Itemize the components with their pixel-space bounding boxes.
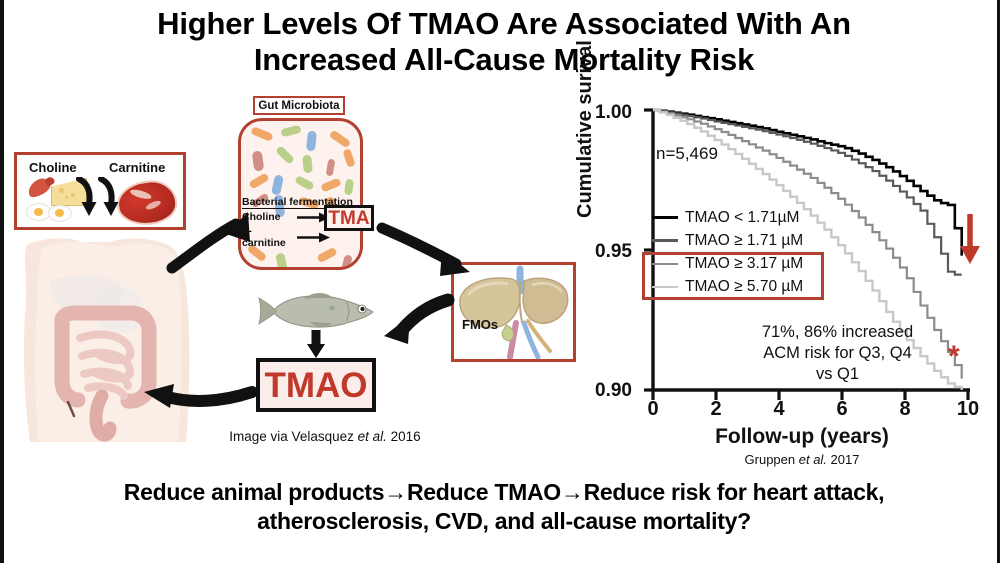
chart-citation: Gruppen et al. 2017: [652, 452, 952, 467]
citation-suffix: 2017: [827, 452, 860, 467]
citation-prefix: Gruppen: [745, 452, 799, 467]
liver-illustration: [454, 265, 573, 359]
caption-line-2: atherosclerosis, CVD, and all-cause mort…: [44, 507, 964, 536]
legend-swatch: [652, 239, 678, 242]
x-tick-label: 0: [638, 398, 668, 421]
down-arrow-icon: [75, 177, 97, 217]
right-arrow-icon: [297, 232, 331, 243]
annotation-line-2: ACM risk for Q3, Q4: [730, 343, 945, 364]
credit-italic: et al.: [358, 429, 387, 444]
slide-caption: Reduce animal products→Reduce TMAO→Reduc…: [44, 478, 964, 537]
credit-suffix: 2016: [387, 429, 421, 444]
kaplan-meier-chart: Cumulative surival 1.00 0.95 0.90 0 2 4 …: [580, 100, 1000, 460]
carnitine-label: Carnitine: [109, 160, 165, 175]
down-arrow-icon: [97, 177, 119, 217]
dietary-source-box: Choline Carnitine: [14, 152, 186, 230]
red-asterisk-icon: *: [948, 342, 960, 372]
chart-legend: TMAO < 1.71µM TMAO ≥ 1.71 µM TMAO ≥ 3.17…: [652, 206, 842, 298]
legend-label: TMAO ≥ 5.70 µM: [685, 278, 803, 296]
annotation-line-1: 71%, 86% increased: [730, 322, 945, 343]
choline-label: Choline: [29, 160, 77, 175]
shrimp-icon: [25, 175, 53, 200]
legend-swatch: [652, 216, 678, 219]
credit-prefix: Image via Velasquez: [229, 429, 357, 444]
fish-icon: [258, 288, 378, 332]
slide-canvas: Higher Levels Of TMAO Are Associated Wit…: [4, 0, 997, 563]
arrow-gut-to-tmao: [307, 330, 325, 358]
caption-line-1: Reduce animal products→Reduce TMAO→Reduc…: [44, 478, 964, 507]
legend-label: TMAO < 1.71µM: [685, 209, 799, 227]
legend-item[interactable]: TMAO ≥ 1.71 µM: [652, 229, 842, 252]
red-down-arrow-icon: [958, 212, 982, 266]
x-tick-label: 4: [764, 398, 794, 421]
substrate-lcarnitine-label: L-carnitine: [242, 225, 294, 249]
page-title: Higher Levels Of TMAO Are Associated Wit…: [64, 6, 944, 78]
x-tick-label: 2: [701, 398, 731, 421]
steak-icon: [114, 177, 180, 229]
image-credit: Image via Velasquez et al. 2016: [200, 429, 450, 444]
legend-label: TMAO ≥ 3.17 µM: [685, 255, 803, 273]
human-digestive-system-illustration: [10, 238, 206, 444]
x-tick-label: 8: [890, 398, 920, 421]
chart-x-axis-label: Follow-up (years): [652, 425, 952, 449]
substrate-choline-label: Choline: [242, 211, 294, 223]
liver-fmos-box: FMOs: [451, 262, 576, 362]
x-tick-label: 6: [827, 398, 857, 421]
legend-item[interactable]: TMAO ≥ 3.17 µM: [652, 252, 842, 275]
title-line-1: Higher Levels Of TMAO Are Associated Wit…: [64, 6, 944, 42]
annotation-line-3: vs Q1: [730, 364, 945, 385]
legend-item[interactable]: TMAO ≥ 5.70 µM: [652, 275, 842, 298]
sample-size-label: n=5,469: [656, 144, 718, 164]
legend-label: TMAO ≥ 1.71 µM: [685, 232, 803, 250]
arrow-liver-to-tmao: [384, 300, 448, 344]
tma-box: TMA: [324, 205, 374, 231]
citation-italic: et al.: [799, 452, 827, 467]
egg-icon: [48, 205, 72, 222]
legend-swatch: [652, 263, 678, 265]
fmos-label: FMOs: [462, 317, 498, 332]
legend-item[interactable]: TMAO < 1.71µM: [652, 206, 842, 229]
chart-annotation: 71%, 86% increased ACM risk for Q3, Q4 v…: [730, 322, 945, 384]
tmao-box: TMAO: [256, 358, 376, 412]
x-tick-label: 10: [953, 398, 983, 421]
legend-swatch: [652, 286, 678, 288]
gut-microbiota-title: Gut Microbiota: [253, 96, 345, 115]
title-line-2: Increased All-Cause Mortality Risk: [64, 42, 944, 78]
